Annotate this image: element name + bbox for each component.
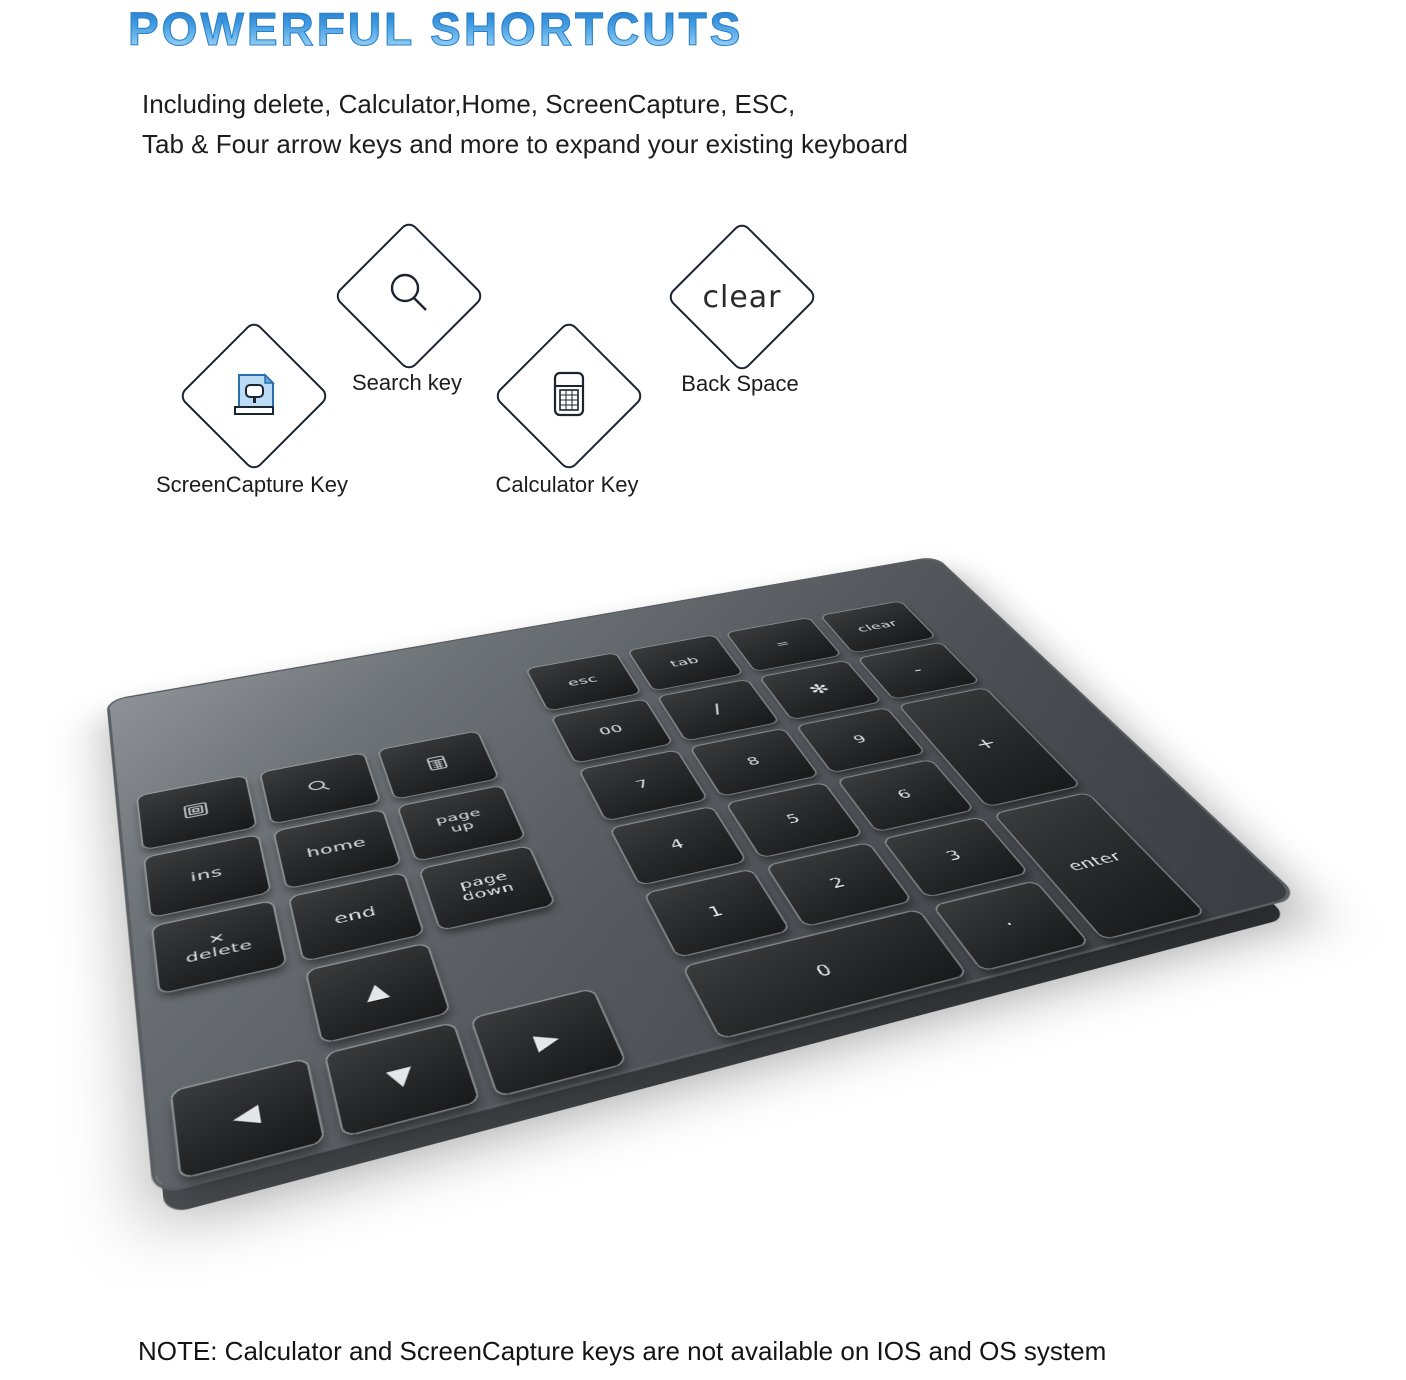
badge-label-search: Search key — [311, 370, 503, 396]
key-6-label: 6 — [895, 788, 916, 802]
magnifier-icon — [304, 776, 335, 798]
badge-label-backspace: Back Space — [640, 371, 840, 397]
key-9-label: 9 — [851, 733, 870, 745]
page-subtitle: Including delete, Calculator,Home, Scree… — [142, 84, 908, 165]
footer-note: NOTE: Calculator and ScreenCapture keys … — [138, 1336, 1106, 1367]
diamond-shape — [333, 220, 486, 373]
key-multiply-label: ✻ — [805, 681, 834, 697]
key-esc-label: esc — [566, 674, 600, 688]
keyboard-stage: inshomepage up✕ deleteendpage downesctab… — [0, 400, 1406, 1320]
key-7-label: 7 — [633, 778, 651, 792]
key-equals-label: = — [773, 638, 793, 649]
key-plus-label: + — [970, 735, 1002, 753]
badge-search: Search key — [355, 242, 463, 350]
key-divide-label: / — [709, 702, 726, 717]
key-minus-label: - — [908, 663, 927, 677]
badge-backspace: clear Back Space — [688, 243, 796, 351]
page-title: POWERFUL SHORTCUTS — [128, 2, 743, 56]
key-clear-label: clear — [855, 619, 901, 634]
numeric-keypad: inshomepage up✕ deleteendpage downesctab… — [109, 557, 1295, 1192]
key-double-zero-label: 00 — [597, 723, 626, 737]
calculator-icon — [423, 754, 452, 774]
magnifier-icon — [383, 268, 435, 325]
badge-text-clear: clear — [702, 280, 781, 315]
key-8-label: 8 — [744, 755, 763, 768]
diamond-shape: clear — [666, 221, 819, 374]
key-tab-label: tab — [668, 655, 701, 669]
